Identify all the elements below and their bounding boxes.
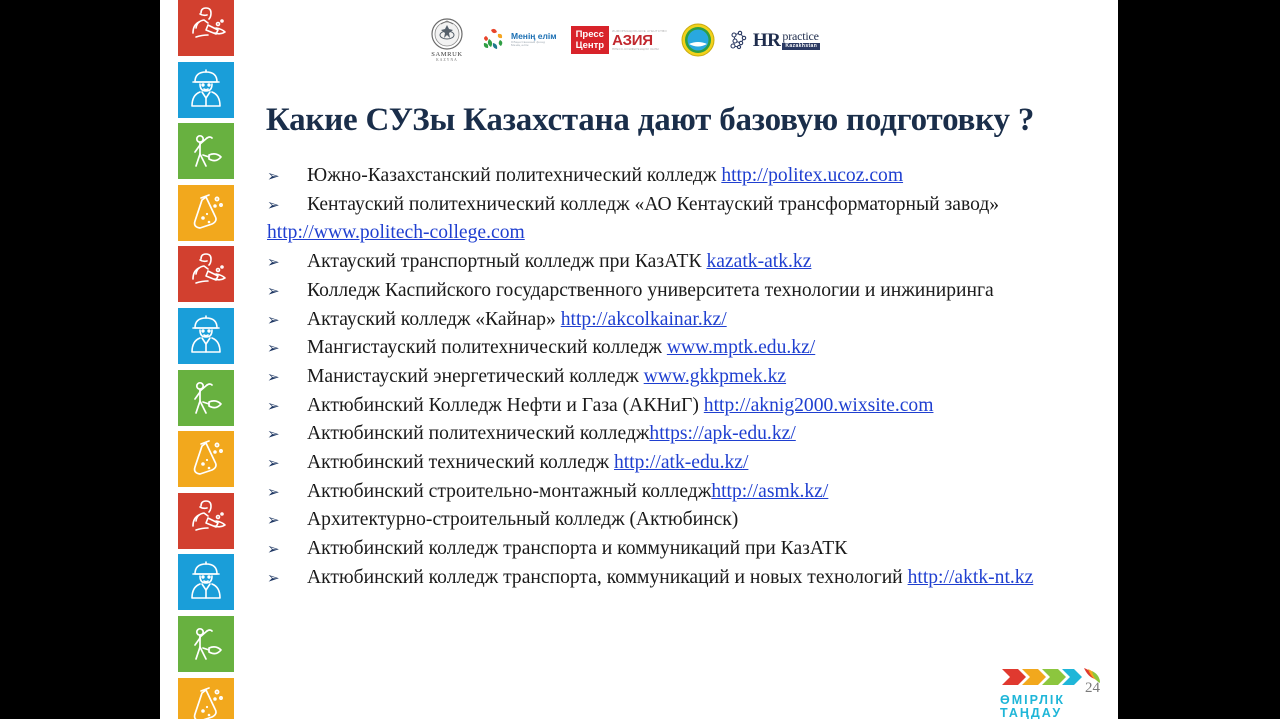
press-line-2: Центр: [576, 40, 605, 51]
list-item-label: Южно-Казахстанский политехнический колле…: [307, 165, 721, 186]
menin-elim-subtitle-2: Менің елім: [511, 44, 557, 48]
arrow-bullet-icon: ➢: [267, 191, 307, 220]
press-center-asia-logo: Пресс Центр ИНФОРМАЦИОННОЕ АГЕНТСТВО АЗИ…: [571, 26, 667, 54]
hr-letters: HR: [753, 31, 781, 50]
asia-bottom-caption: ПРЕСС-КОНФЕРЕНЦИИ ЗАЛЫ: [612, 48, 667, 51]
round-emblem-logo: [681, 23, 715, 57]
list-item-label: Актюбинский колледж транспорта и коммуни…: [307, 538, 847, 559]
list-item-label: Актюбинский строительно-монтажный коллед…: [307, 481, 711, 502]
flask-icon: [178, 678, 234, 719]
rail-tile-engineer-icon: [178, 308, 234, 364]
list-item: ➢Актауский колледж «Кайнар» http://akcol…: [267, 306, 1077, 335]
list-item: ➢Мангистауский политехнический колледж w…: [267, 334, 1077, 363]
arrow-bullet-icon: ➢: [267, 449, 307, 478]
list-item: ➢Манистауский энергетический колледж www…: [267, 363, 1077, 392]
hr-practice-kazakhstan-logo: HR practice Kazakhstan: [729, 29, 820, 51]
samruk-emblem-icon: [430, 17, 464, 51]
list-item-label: Колледж Каспийского государственного уни…: [307, 280, 994, 301]
list-item-link[interactable]: www.gkkpmek.kz: [644, 366, 786, 387]
asia-box: ИНФОРМАЦИОННОЕ АГЕНТСТВО АЗИЯ ПРЕСС-КОНФ…: [612, 26, 667, 54]
rail-tile-foundry-worker-icon: [178, 616, 234, 672]
arrow-bullet-icon: ➢: [267, 277, 307, 306]
asia-title: АЗИЯ: [612, 33, 667, 48]
list-item-link[interactable]: http://www.politech-college.com: [267, 222, 525, 243]
list-item: ➢Южно-Казахстанский политехнический колл…: [267, 162, 1077, 191]
hr-kazakhstan-badge: Kazakhstan: [782, 43, 820, 51]
flask-icon: [178, 431, 234, 487]
samruk-logo-subname: KAZYNA: [436, 59, 458, 63]
rail-tile-engineer-icon: [178, 62, 234, 118]
foundry-worker-icon: [178, 123, 234, 179]
list-item: ➢Архитектурно-строительный колледж (Актю…: [267, 506, 1077, 535]
list-item-label: Актауский транспортный колледж при КазАТ…: [307, 251, 706, 272]
list-item-link[interactable]: kazatk-atk.kz: [706, 251, 811, 272]
arrow-bullet-icon: ➢: [267, 306, 307, 335]
arrow-bullet-icon: ➢: [267, 506, 307, 535]
icon-rail: [178, 0, 234, 719]
welder-icon: [178, 493, 234, 549]
screenshot-viewport: SAMRUK KAZYNA Менің елім Общественный фо…: [0, 0, 1280, 719]
rail-tile-welder-icon: [178, 493, 234, 549]
list-item-label: Архитектурно-строительный колледж (Актюб…: [307, 509, 738, 530]
list-item: ➢Колледж Каспийского государственного ун…: [267, 277, 1077, 306]
list-item-link[interactable]: http://akcolkainar.kz/: [561, 309, 727, 330]
menin-elim-flower-icon: [478, 25, 508, 55]
slide-title: Какие СУЗы Казахстана дают базовую подго…: [260, 98, 1040, 142]
list-item: ➢Актюбинский технический колледж http://…: [267, 449, 1077, 478]
list-item-link[interactable]: http://asmk.kz/: [711, 481, 828, 502]
molecule-network-icon: [729, 29, 751, 51]
presentation-slide: SAMRUK KAZYNA Менің елім Общественный фо…: [160, 0, 1118, 719]
welder-icon: [178, 0, 234, 56]
list-item: ➢Актауский транспортный колледж при КазА…: [267, 248, 1077, 277]
list-item-label: Кентауский политехнический колледж «АО К…: [307, 194, 999, 215]
welder-icon: [178, 246, 234, 302]
rail-tile-flask-icon: [178, 678, 234, 719]
list-item-label: Актюбинский технический колледж: [307, 452, 614, 473]
list-item-label: Манистауский энергетический колледж: [307, 366, 644, 387]
rail-tile-welder-icon: [178, 0, 234, 56]
rail-tile-flask-icon: [178, 185, 234, 241]
list-item-link[interactable]: http://aktk-nt.kz: [908, 567, 1034, 588]
list-item: ➢Актюбинский Колледж Нефти и Газа (АКНиГ…: [267, 392, 1077, 421]
rail-tile-flask-icon: [178, 431, 234, 487]
press-line-1: Пресс: [576, 29, 605, 40]
foundry-worker-icon: [178, 616, 234, 672]
arrow-bullet-icon: ➢: [267, 392, 307, 421]
menin-elim-logo: Менің елім Общественный фонд Менің елім: [478, 25, 557, 55]
rail-tile-engineer-icon: [178, 554, 234, 610]
rail-tile-foundry-worker-icon: [178, 123, 234, 179]
arrow-bullet-icon: ➢: [267, 334, 307, 363]
arrow-bullet-icon: ➢: [267, 162, 307, 191]
list-item: ➢Актюбинский колледж транспорта, коммуни…: [267, 564, 1077, 593]
page-number: 24: [1085, 680, 1100, 697]
rail-tile-welder-icon: [178, 246, 234, 302]
rail-tile-foundry-worker-icon: [178, 370, 234, 426]
arrow-bullet-icon: ➢: [267, 420, 307, 449]
arrow-bullet-icon: ➢: [267, 478, 307, 507]
arrow-bullet-icon: ➢: [267, 564, 307, 593]
flask-icon: [178, 185, 234, 241]
engineer-icon: [178, 554, 234, 610]
omirlik-line-2: ТАҢДАУ: [1000, 707, 1108, 719]
list-item-label: Актюбинский Колледж Нефти и Газа (АКНиГ): [307, 395, 704, 416]
partner-logo-strip: SAMRUK KAZYNA Менің елім Общественный фо…: [430, 12, 900, 68]
list-item-link[interactable]: www.mptk.edu.kz/: [667, 337, 815, 358]
list-item-link[interactable]: http://politex.ucoz.com: [721, 165, 903, 186]
list-item-label: Мангистауский политехнический колледж: [307, 337, 667, 358]
list-item-label: Актюбинский колледж транспорта, коммуник…: [307, 567, 908, 588]
foundry-worker-icon: [178, 370, 234, 426]
list-item-link[interactable]: http://aknig2000.wixsite.com: [704, 395, 934, 416]
list-item: ➢Актюбинский колледж транспорта и коммун…: [267, 535, 1077, 564]
college-list: ➢Южно-Казахстанский политехнический колл…: [267, 162, 1077, 593]
arrow-bullet-icon: ➢: [267, 535, 307, 564]
hr-practice-word: practice: [782, 30, 820, 42]
list-item: ➢Актюбинский строительно-монтажный колле…: [267, 478, 1077, 507]
arrow-bullet-icon: ➢: [267, 363, 307, 392]
round-emblem-icon: [681, 23, 715, 57]
list-item-link[interactable]: https://apk-edu.kz/: [649, 423, 795, 444]
list-item-label: Актюбинский политехнический колледж: [307, 423, 649, 444]
list-item: ➢Актюбинский политехнический колледжhttp…: [267, 420, 1077, 449]
press-center-box: Пресс Центр: [571, 26, 610, 54]
engineer-icon: [178, 308, 234, 364]
list-item-link[interactable]: http://atk-edu.kz/: [614, 452, 748, 473]
list-item: ➢Кентауский политехнический колледж «АО …: [267, 191, 1077, 248]
arrow-bullet-icon: ➢: [267, 248, 307, 277]
engineer-icon: [178, 62, 234, 118]
list-item-label: Актауский колледж «Кайнар»: [307, 309, 561, 330]
samruk-kazyna-logo: SAMRUK KAZYNA: [430, 17, 464, 62]
